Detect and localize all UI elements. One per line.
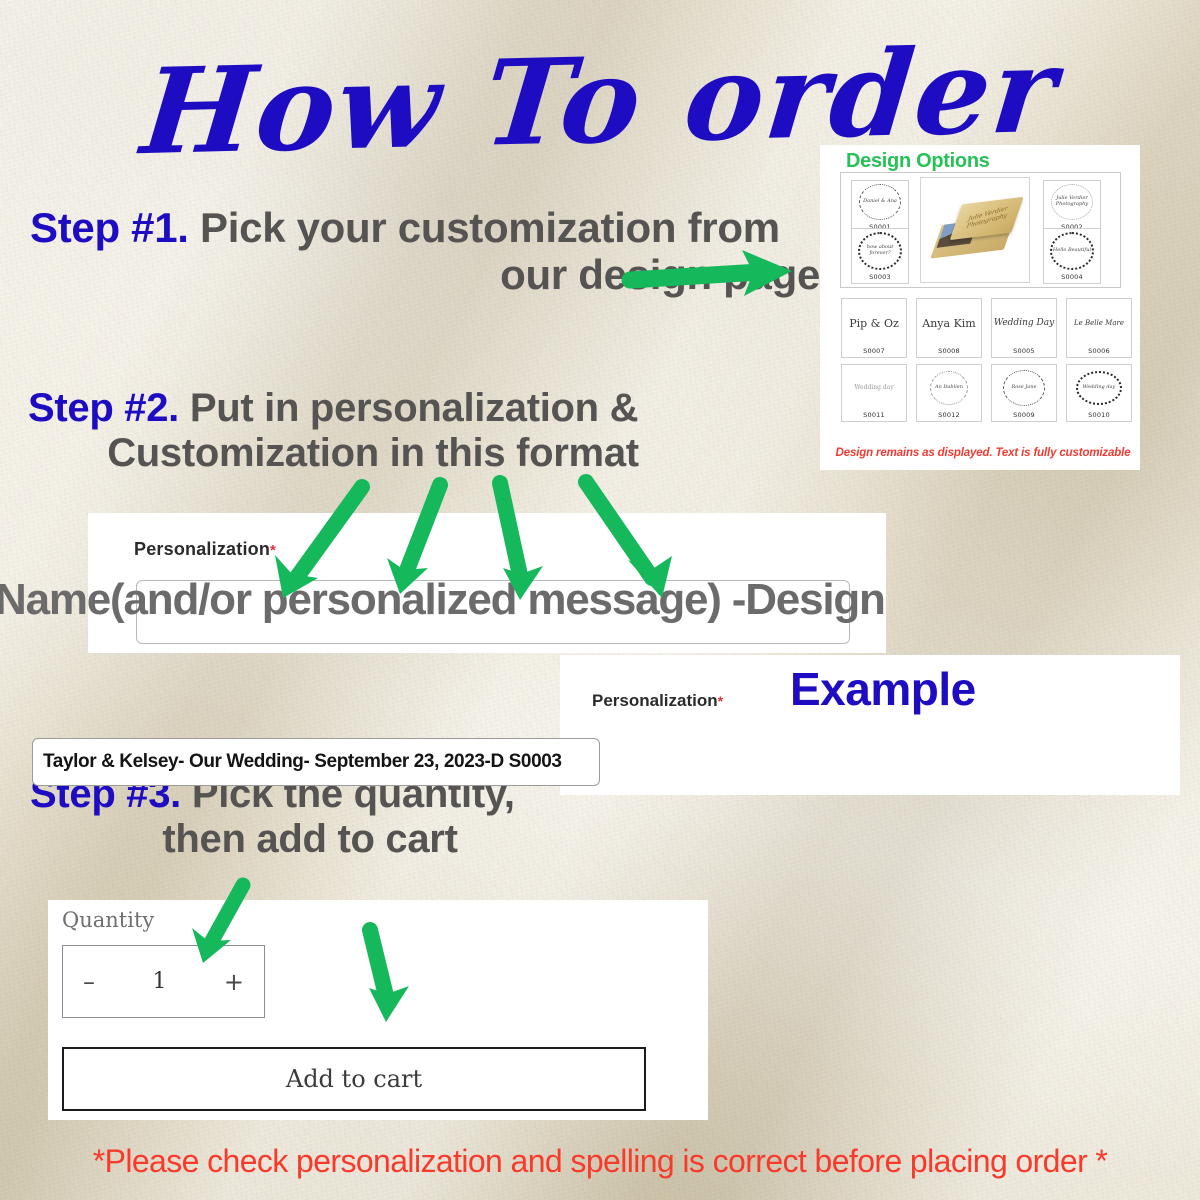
required-asterisk-icon: * — [270, 542, 276, 559]
design-thumb-s0001[interactable]: Daniel & Ana S0001 — [851, 180, 909, 234]
step-1-number: Step #1. — [30, 204, 189, 251]
example-personalization-value: Taylor & Kelsey- Our Wedding- September … — [33, 751, 562, 773]
step-2-heading: Step #2. Put in personalization & Custom… — [28, 386, 718, 476]
step-2-number: Step #2. — [28, 386, 179, 430]
design-art-s0005: Wedding Day — [992, 299, 1056, 347]
quantity-increment-button[interactable]: + — [224, 970, 244, 994]
design-art-s0009: Rose Jane — [992, 365, 1056, 411]
step-1-line1: Pick your customization from — [200, 204, 780, 251]
wreath-icon: Wedding day — [1076, 371, 1122, 405]
quantity-stepper[interactable]: – 1 + — [62, 945, 265, 1018]
design-code-s0005: S0005 — [1013, 347, 1035, 357]
step-2-line2: Customization in this format — [107, 431, 639, 475]
design-art-s0011: Wedding day — [842, 365, 906, 411]
design-thumb-s0012[interactable]: An Itablien S0012 — [916, 364, 982, 422]
wreath-icon: Julie Verdier Photography — [1051, 184, 1093, 220]
wreath-icon: Daniel & Ana — [859, 184, 901, 220]
wooden-box-illustration: Julie Verdier Photography — [928, 194, 1023, 266]
box-engraving-text: Julie Verdier Photography — [966, 201, 1021, 230]
design-code-s0004: S0004 — [1061, 273, 1083, 283]
design-featured-product-photo[interactable]: Julie Verdier Photography — [920, 177, 1030, 283]
wreath-icon: Hello Beautiful — [1050, 232, 1094, 270]
design-thumb-s0009[interactable]: Rose Jane S0009 — [991, 364, 1057, 422]
footer-warning-note: *Please check personalization and spelli… — [0, 1143, 1200, 1180]
design-thumb-s0010[interactable]: Wedding day S0010 — [1066, 364, 1132, 422]
design-code-s0006: S0006 — [1088, 347, 1110, 357]
design-art-s0012: An Itablien — [917, 365, 981, 411]
design-art-s0002: Julie Verdier Photography — [1044, 181, 1100, 223]
design-art-s0006: Le Belle Mare — [1067, 299, 1131, 347]
example-personalization-input[interactable]: Taylor & Kelsey- Our Wedding- September … — [32, 738, 600, 786]
design-art-s0008: Anya Kim — [917, 299, 981, 347]
design-thumb-s0004[interactable]: Hello Beautiful S0004 — [1043, 228, 1101, 284]
design-art-s0007: Pip & Oz — [842, 299, 906, 347]
design-art-s0004: Hello Beautiful — [1044, 229, 1100, 273]
design-art-s0001: Daniel & Ana — [852, 181, 908, 223]
design-thumb-s0008[interactable]: Anya Kim S0008 — [916, 298, 982, 358]
personalization-label: Personalization* — [134, 539, 276, 560]
design-code-s0007: S0007 — [863, 347, 885, 357]
design-art-s0010: Wedding day — [1067, 365, 1131, 411]
design-options-title: Design Options — [846, 150, 990, 173]
design-code-s0010: S0010 — [1088, 411, 1110, 421]
design-thumb-s0006[interactable]: Le Belle Mare S0006 — [1066, 298, 1132, 358]
design-thumb-s0003[interactable]: how about forever? S0003 — [851, 228, 909, 284]
design-thumb-s0011[interactable]: Wedding day S0011 — [841, 364, 907, 422]
step-1-heading: Step #1. Pick your customization from ou… — [30, 204, 820, 298]
add-to-cart-button[interactable]: Add to cart — [62, 1047, 646, 1111]
required-asterisk-icon: * — [718, 693, 723, 709]
design-thumb-s0002[interactable]: Julie Verdier Photography S0002 — [1043, 180, 1101, 234]
quantity-decrement-button[interactable]: – — [83, 970, 95, 994]
design-thumb-s0007[interactable]: Pip & Oz S0007 — [841, 298, 907, 358]
wreath-icon: how about forever? — [858, 232, 902, 270]
example-heading: Example — [790, 662, 976, 716]
step-3-line2: then add to cart — [162, 817, 457, 861]
design-code-s0012: S0012 — [938, 411, 960, 421]
design-art-s0003: how about forever? — [852, 229, 908, 273]
personalization-format-text: Name(and/or personalized message) -Desig… — [0, 575, 975, 625]
design-thumb-s0005[interactable]: Wedding Day S0005 — [991, 298, 1057, 358]
design-options-note: Design remains as displayed. Text is ful… — [824, 447, 1142, 459]
quantity-label: Quantity — [62, 908, 154, 932]
example-personalization-label: Personalization* — [592, 691, 723, 711]
wreath-icon: An Itablien — [930, 371, 968, 405]
design-code-s0008: S0008 — [938, 347, 960, 357]
step-1-line2: our design page — [500, 251, 820, 298]
design-code-s0009: S0009 — [1013, 411, 1035, 421]
design-code-s0011: S0011 — [863, 411, 885, 421]
quantity-value[interactable]: 1 — [152, 969, 166, 994]
step-2-line1: Put in personalization & — [190, 386, 638, 430]
design-code-s0003: S0003 — [869, 273, 891, 283]
wreath-icon: Rose Jane — [1003, 370, 1045, 406]
